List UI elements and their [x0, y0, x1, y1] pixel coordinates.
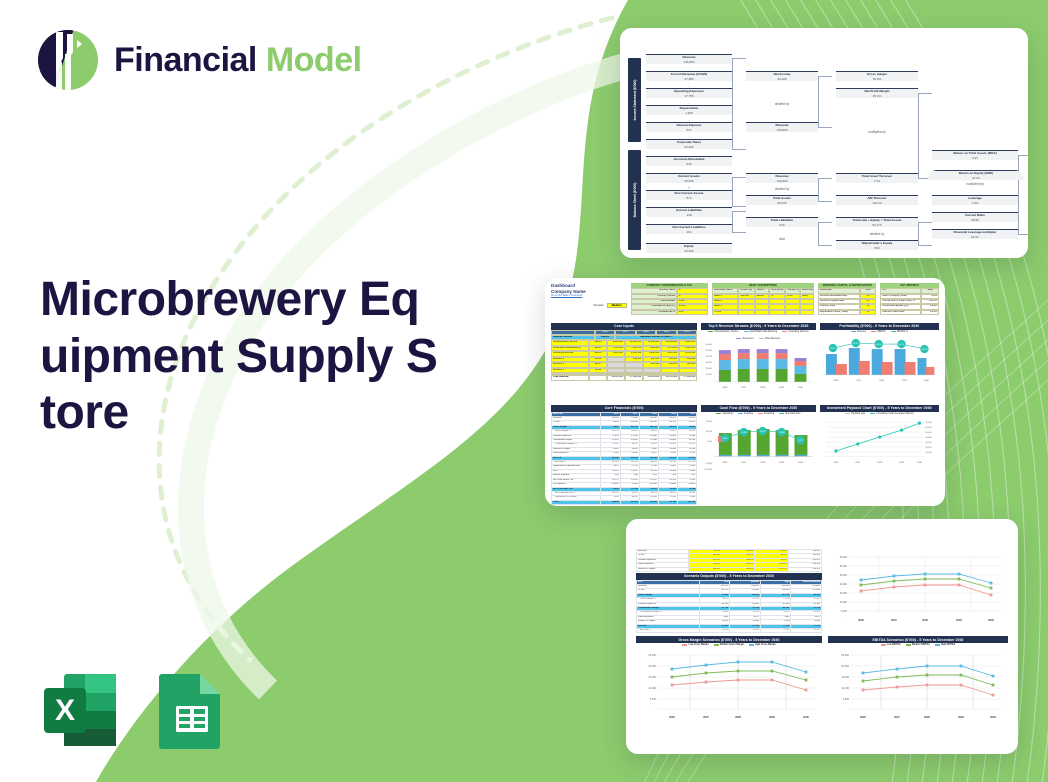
dupont-sheet: Income Statement ($'000) Balance Sheet (…	[620, 28, 1028, 258]
svg-text:2030: 2030	[803, 715, 809, 719]
balance-sheet-band: Balance Sheet ($'000)	[628, 150, 641, 250]
svg-text:2030: 2030	[798, 462, 804, 464]
node-gross-margin: Gross margin 65.0%	[836, 71, 918, 81]
node-total-liab-equity: Total Liab + Equity = Total Assets 50,17…	[836, 217, 918, 227]
total-revenue-row: Total Revenue 44,200,400 47,460,800 49,4…	[551, 375, 697, 380]
cash-flow-chart[interactable]: Cash Flow ($'000) - 5 Years to December …	[701, 405, 815, 489]
svg-text:50,000: 50,000	[706, 350, 713, 352]
svg-text:2029: 2029	[899, 462, 905, 464]
svg-text:20,000: 20,000	[648, 665, 656, 668]
node-return-on-total-assets: Return on Total Assets (ROA) 0.97	[932, 150, 1018, 160]
node-non-current-assets: Non Current Assets 570	[646, 190, 732, 200]
row-value: 100.0%	[788, 567, 821, 571]
svg-text:15,000: 15,000	[841, 676, 849, 679]
row-value: -40,196	[678, 500, 697, 504]
table-row[interactable]: Close8,469466,18250,96553,148-40,196	[552, 500, 697, 504]
row-value: 22.1%	[699, 629, 730, 633]
node-total-assets: Total Assets 50,576	[746, 195, 818, 205]
svg-text:10,000: 10,000	[925, 452, 932, 454]
svg-text:10,295: 10,295	[741, 432, 748, 434]
svg-text:-: -	[711, 382, 712, 384]
node-current-liabilities: Current Liabilities 448	[646, 207, 732, 217]
node-return-on-equity: Return on Equity (ROE) 61.23	[928, 170, 1024, 180]
svg-text:2027: 2027	[856, 380, 862, 382]
svg-text:2030: 2030	[924, 380, 930, 382]
dashboard-sheet: Dashboard Company Name Go to the Table o…	[545, 278, 945, 506]
node-equity: Equity 49,628	[646, 243, 732, 253]
page-title: Microbrewery Equipment Supply Store	[40, 272, 440, 442]
svg-text:2029: 2029	[769, 715, 775, 719]
scenario-label: Scenario	[593, 304, 603, 307]
node-operating-expenses: Operating Expenses 17,758	[646, 88, 732, 98]
svg-text:-: -	[655, 708, 656, 711]
scenario-selector[interactable]: Medium	[607, 303, 627, 308]
row-label: EBITDA %	[637, 629, 700, 633]
svg-text:2027: 2027	[855, 462, 861, 464]
svg-text:25,000: 25,000	[840, 574, 848, 577]
svg-text:60,000: 60,000	[706, 344, 713, 346]
svg-text:-: -	[846, 617, 847, 620]
panel-currency-denomination: CURRENCY DENOMINATION & TAX Currency Nam…	[631, 283, 708, 315]
svg-text:-: -	[712, 455, 713, 457]
svg-text:35.0%: 35.0%	[876, 344, 882, 346]
svg-text:2029: 2029	[902, 380, 908, 382]
svg-text:20,000: 20,000	[706, 368, 713, 370]
dashboard-header: Dashboard Company Name Go to the Table o…	[551, 283, 627, 308]
main-dashboard-card[interactable]: Dashboard Company Name Go to the Table o…	[545, 278, 945, 506]
svg-text:2027: 2027	[742, 462, 748, 464]
svg-text:-: -	[925, 456, 926, 458]
node-leverage: Leverage 1.9%	[932, 195, 1018, 205]
node-accounts-receivable: Accounts Receivable 948	[646, 156, 732, 166]
svg-text:2029: 2029	[958, 715, 964, 719]
node-ar-turnover: A/R Turnover 144.24	[836, 195, 918, 205]
svg-text:2026: 2026	[723, 462, 729, 464]
svg-text:2028: 2028	[760, 462, 766, 464]
income-statement-band: Income Statement ($'000)	[628, 58, 641, 142]
svg-text:10,000: 10,000	[840, 601, 848, 604]
node-revenue-c: Revenue 136,800	[746, 173, 818, 183]
svg-text:2027: 2027	[891, 618, 897, 622]
svg-text:34.2%: 34.2%	[830, 348, 836, 350]
table-row[interactable]: Salaries & Wages105.0%100.0%100.0%100.0%	[637, 567, 822, 571]
row-value[interactable]: 100.0%	[755, 567, 788, 571]
svg-text:2030: 2030	[988, 618, 994, 622]
row-value: 32.0%	[791, 629, 822, 633]
svg-text:2026: 2026	[858, 618, 864, 622]
left-content-column: Financial Model Microbrewery Equipment S…	[0, 0, 470, 782]
node-depreciation: Depreciation 1,265	[646, 105, 732, 115]
scenario-dashboard-card[interactable]: Revenue80.0%100.0%110.0%100.0%COGS105.0%…	[626, 519, 1018, 754]
svg-text:(5,000): (5,000)	[706, 463, 713, 465]
ebitda-scenarios-chart[interactable]: EBITDA Scenarios ($'000) - 5 Years to De…	[828, 636, 1008, 726]
svg-text:2030: 2030	[990, 715, 996, 719]
row-value: 53,148	[658, 500, 677, 504]
svg-text:20,000: 20,000	[840, 583, 848, 586]
svg-text:25,000: 25,000	[648, 654, 656, 657]
brand-logo[interactable]: Financial Model	[36, 28, 362, 92]
gross-margin-plot: 25,000 20,000 15,000 10,000 5,000 -	[636, 647, 822, 721]
svg-text:70,000: 70,000	[925, 422, 932, 424]
profitability-plot: 34.2% 33.1% 35.0% 34.1% 35.2% 2026 2027 …	[820, 334, 939, 386]
core-inputs-table: Core Inputs 2026 2027 2028 2029 2030 Rev…	[551, 323, 697, 401]
svg-text:2028: 2028	[879, 380, 885, 382]
svg-text:2029: 2029	[956, 618, 962, 622]
svg-text:40,000: 40,000	[925, 437, 932, 439]
svg-text:-: -	[848, 708, 849, 711]
svg-text:2026: 2026	[833, 462, 839, 464]
profitability-chart[interactable]: Profitability ($'000) - 5 Years to Decem…	[820, 323, 939, 401]
gross-margin-scenarios-chart[interactable]: Gross Margin Scenarios ($'000) - 5 Years…	[636, 636, 822, 726]
svg-text:20,000: 20,000	[841, 665, 849, 668]
scenario-outputs-table: Scenario Outputs ($'000) - 5 Years to De…	[636, 573, 822, 633]
svg-text:10,000: 10,000	[706, 374, 713, 376]
brand-wordmark: Financial Model	[114, 43, 362, 77]
brand-name-part2: Model	[266, 41, 362, 79]
row-value[interactable]: 100.0%	[722, 567, 755, 571]
core-financials-table: Core Financials ($'000) Item/Year 2026 2…	[551, 405, 697, 489]
svg-text:33.1%: 33.1%	[853, 343, 859, 345]
svg-text:15,000: 15,000	[648, 676, 656, 679]
svg-text:34.1%: 34.1%	[898, 344, 904, 346]
panel-working-capital: WORKING CAPITAL & DEPRECIATION Assumptio…	[818, 283, 877, 315]
svg-text:2027: 2027	[894, 715, 900, 719]
row-label: Salaries & Wages	[637, 567, 689, 571]
table-row[interactable]: EBITDA %22.1%32.0%37.0%32.0%	[637, 629, 822, 633]
svg-text:2027: 2027	[703, 715, 709, 719]
svg-text:2028: 2028	[924, 715, 930, 719]
scenario-assumptions-table: Revenue80.0%100.0%110.0%100.0%COGS105.0%…	[636, 549, 822, 571]
promo-graphic: Financial Model Microbrewery Equipment S…	[0, 0, 1048, 782]
node-shareholders-equity: Shareholder's Equity 800	[836, 240, 918, 250]
row-value: 32.0%	[730, 629, 761, 633]
table-of-contents-link[interactable]: Go to the Table of Contents	[551, 294, 627, 298]
node-non-current-liabilities: Non Current Liabilities 101	[646, 224, 732, 234]
dupont-tree: Income Statement ($'000) Balance Sheet (…	[628, 54, 1022, 236]
panel-debt-assumptions: DEBT ASSUMPTIONS Loan/Asset Name Amount …	[712, 283, 814, 315]
scenario-assumption-grid: Revenue80.0%100.0%110.0%100.0%COGS105.0%…	[636, 549, 822, 572]
svg-text:2028: 2028	[760, 386, 766, 388]
svg-text:2026: 2026	[833, 380, 839, 382]
svg-text:35.2%: 35.2%	[921, 349, 927, 351]
svg-text:2026: 2026	[723, 386, 729, 388]
svg-text:2028: 2028	[877, 462, 883, 464]
svg-text:2027: 2027	[742, 386, 748, 388]
row-value: 50,965	[639, 500, 658, 504]
svg-text:2029: 2029	[779, 386, 785, 388]
svg-text:6,977: 6,977	[798, 440, 803, 442]
revenue-scenarios-plot: 35,00030,00025,000 20,00015,00010,000 5,…	[828, 549, 1008, 627]
node-cogs: Cost of Revenue (COGS) 47,880	[646, 71, 732, 81]
svg-text:15,000: 15,000	[706, 421, 713, 423]
svg-text:10,580: 10,580	[779, 432, 786, 434]
svg-text:35,000: 35,000	[840, 556, 848, 559]
top-5-revenue-streams-chart[interactable]: Top 5 Revenue Streams ($'000) - 5 Years …	[701, 323, 815, 401]
node-total-asset-turnover: Total Asset Turnover 2.70	[836, 173, 918, 183]
panel-key-metrics: KEY METRICS KPIValue Return on Equity (R…	[880, 283, 939, 315]
payback-plot: 70,000 60,000 50,000 40,000 30,000 20,00…	[820, 416, 939, 474]
svg-text:20,000: 20,000	[925, 447, 932, 449]
google-sheets-icon	[148, 668, 232, 752]
svg-text:5,000: 5,000	[707, 441, 713, 443]
microsoft-excel-icon: X	[38, 668, 122, 752]
node-revenue-b: Revenue 136,800	[746, 122, 818, 132]
svg-text:15,000: 15,000	[840, 592, 848, 595]
svg-text:5,000: 5,000	[650, 698, 657, 701]
svg-text:40,000: 40,000	[706, 356, 713, 358]
svg-text:2028: 2028	[735, 715, 741, 719]
row-value[interactable]: 105.0%	[688, 567, 721, 571]
node-current-assets: Current Assets 50,006	[646, 173, 732, 183]
svg-text:2026: 2026	[860, 715, 866, 719]
svg-text:(10,000): (10,000)	[705, 468, 713, 470]
node-total-liabilities: Total Liabilities 549	[746, 217, 818, 227]
row-value: 66,182	[620, 500, 639, 504]
svg-text:25,000: 25,000	[841, 654, 849, 657]
node-current-ratio: Current Ratio 58.98	[932, 212, 1018, 222]
row-label: Close	[552, 500, 601, 504]
node-corporate-taxes: Corporate Taxes 20,926	[646, 139, 732, 149]
svg-text:30,000: 30,000	[840, 565, 848, 568]
brand-name-part1: Financial	[114, 41, 257, 79]
chart-legend: Pickup/Delivery Service Small Batch Manu…	[701, 330, 815, 341]
stacked-bar-plot: 60,00050,00040,000 30,00020,00010,000-	[701, 341, 815, 393]
ebitda-plot: 25,000 20,000 15,000 10,000 5,000 -	[828, 647, 1008, 721]
svg-text:11,702: 11,702	[760, 431, 766, 433]
svg-text:10,000: 10,000	[648, 687, 656, 690]
node-financial-leverage-multiplier: Financial Leverage multiplier 63.22	[932, 229, 1018, 239]
svg-text:X: X	[55, 694, 75, 727]
svg-text:2028: 2028	[922, 618, 928, 622]
svg-text:2026: 2026	[669, 715, 675, 719]
svg-text:30,000: 30,000	[706, 362, 713, 364]
node-net-income: Net Income 48,428	[746, 71, 818, 81]
svg-text:2030: 2030	[917, 462, 923, 464]
svg-text:60,000: 60,000	[925, 427, 932, 429]
financial-model-circle-logo-icon	[36, 28, 100, 92]
svg-text:2029: 2029	[779, 462, 785, 464]
row-value: 8,4694	[601, 500, 620, 504]
core-financials-grid: Item/Year 2026 2027 2028 2029 2030 Reven…	[551, 412, 697, 506]
svg-text:5,000: 5,000	[841, 610, 848, 613]
format-badges: X	[38, 668, 232, 752]
investment-payback-chart[interactable]: Investment Payback Chart ($'000) - 5 Yea…	[820, 405, 939, 489]
svg-text:30,000: 30,000	[925, 442, 932, 444]
node-revenue: Revenue 136,800	[646, 54, 732, 64]
node-net-profit-margin: Net Profit Margin 35.2%	[836, 88, 918, 98]
svg-text:2030: 2030	[798, 386, 804, 388]
svg-text:10,000: 10,000	[706, 431, 713, 433]
dupont-analysis-card[interactable]: Income Statement ($'000) Balance Sheet (…	[620, 28, 1028, 258]
scenario-outputs-grid: KPIs Low Medium High Active (Medium) Rev…	[636, 580, 822, 634]
svg-text:5,000: 5,000	[843, 698, 850, 701]
row-value: 37.0%	[760, 629, 791, 633]
node-interest-expense: Interest Expense 537	[646, 122, 732, 132]
cash-flow-plot: 15,00010,0005,000 -(5,000)(10,000)	[701, 416, 815, 474]
revenue-scenarios-chart[interactable]: 35,00030,00025,000 20,00015,00010,000 5,…	[828, 573, 1008, 633]
node-return-on-equity-wrapper: Return on Equity (ROE) 61.23	[928, 170, 1024, 188]
svg-text:10,000: 10,000	[841, 687, 849, 690]
scenario-sheet: Revenue80.0%100.0%110.0%100.0%COGS105.0%…	[626, 519, 1018, 754]
svg-text:50,000: 50,000	[925, 432, 932, 434]
